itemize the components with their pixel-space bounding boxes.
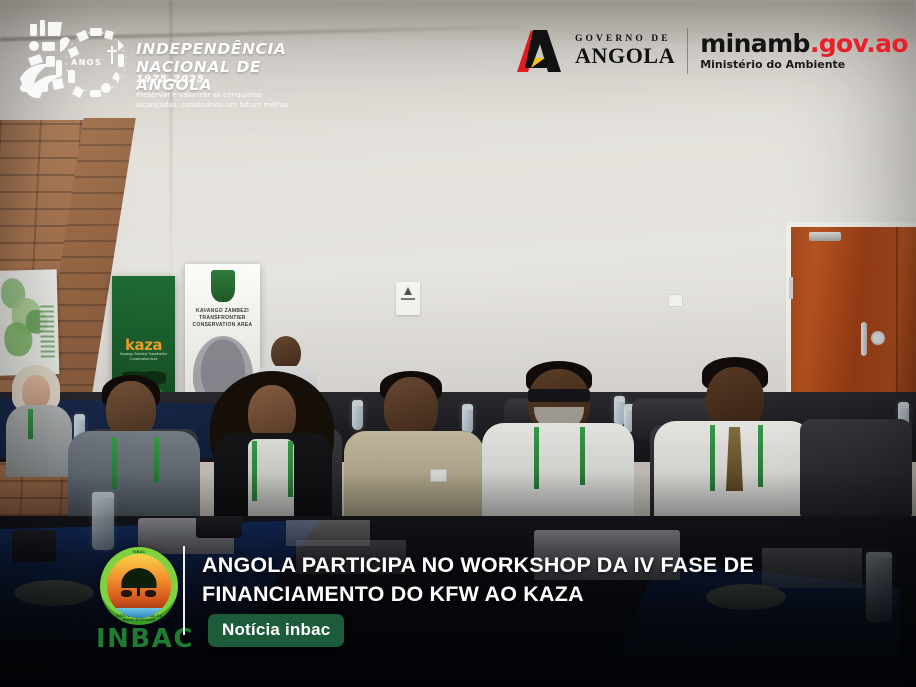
- antelope-icon: [121, 590, 132, 597]
- independence-years: 1975-2025: [136, 74, 205, 85]
- minamb-logo: minamb.gov.ao Ministério do Ambiente: [700, 31, 908, 71]
- independence-header: ANOS INDEPENDÊNCIA NACIONAL DE ANGOLA 19…: [8, 12, 298, 112]
- door-handle: [861, 322, 867, 356]
- news-headline: ANGOLA PARTICIPA NO WORKSHOP DA IV FASE …: [202, 551, 902, 609]
- governo-de-angola-logo: GOVERNO DE ANGOLA: [511, 28, 675, 74]
- institutional-logos: GOVERNO DE ANGOLA minamb.gov.ao Ministér…: [511, 18, 908, 84]
- independence-title-line1: INDEPENDÊNCIA: [136, 40, 286, 58]
- emblem-anos-label: ANOS: [71, 58, 102, 67]
- news-source-badge[interactable]: Notícia inbac: [208, 614, 344, 647]
- independence-tagline: Preservar e valorizar as conquistas alca…: [136, 90, 306, 110]
- independence-title: INDEPENDÊNCIA NACIONAL DE ANGOLA: [136, 40, 298, 94]
- sunglasses-icon: [528, 389, 590, 402]
- minamb-name: minamb: [700, 29, 810, 58]
- inbac-wordmark: INBAC: [96, 626, 182, 652]
- caption-block: INBAC INSTITUTO NACIONAL DA BIODIVERSIDA…: [0, 527, 916, 687]
- angola-a-mark-icon: [511, 28, 567, 74]
- water-icon: [107, 608, 171, 618]
- participant-6: [654, 357, 812, 529]
- wall-notice-sign: [396, 282, 420, 315]
- participant-4: [344, 371, 484, 529]
- participant-5: [482, 361, 634, 529]
- light-switch: [668, 294, 683, 307]
- inbac-logo: INBAC INSTITUTO NACIONAL DA BIODIVERSIDA…: [96, 547, 182, 652]
- door-closer: [809, 232, 841, 241]
- governo-large-text: ANGOLA: [575, 45, 675, 67]
- minamb-subtitle: Ministério do Ambiente: [700, 59, 908, 71]
- 50-anos-emblem-icon: [12, 16, 128, 108]
- logo-divider: [687, 28, 688, 74]
- inbac-seal-icon: INBAC INSTITUTO NACIONAL DA BIODIVERSIDA…: [100, 547, 178, 625]
- caption-divider: [183, 546, 185, 635]
- participant-2: [68, 375, 200, 525]
- antelope-icon: [145, 590, 156, 597]
- minamb-domain: .gov.ao: [810, 29, 908, 58]
- participant-1: [6, 365, 72, 475]
- kaza-crest-icon: [211, 270, 235, 302]
- participant-3: [196, 371, 346, 531]
- news-card: kaza Kavango Zambezi Transfrontier Conse…: [0, 0, 916, 687]
- kaza-white-banner-title: KAVANGO ZAMBEZI TRANSFRONTIER CONSERVATI…: [188, 308, 257, 329]
